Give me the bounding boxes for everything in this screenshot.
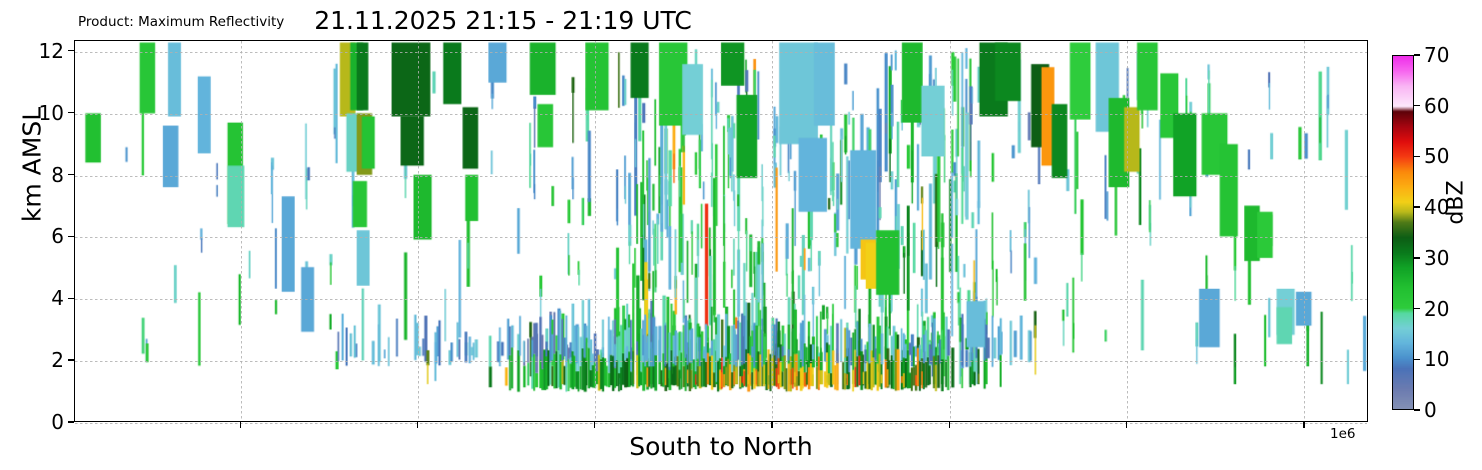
colorbar-tick-mark xyxy=(1414,359,1420,360)
colorbar-label: dBZ xyxy=(1444,143,1469,263)
x-tick-mark xyxy=(949,422,950,428)
x-tick-mark xyxy=(240,422,241,428)
radar-cross-section-figure: 21.11.2025 21:15 - 21:19 UTC Product: Ma… xyxy=(0,0,1482,470)
y-tick-label: 6 xyxy=(51,224,64,248)
y-tick-label: 10 xyxy=(39,101,64,125)
y-tick-label: 2 xyxy=(51,348,64,372)
colorbar-tick-mark xyxy=(1414,308,1420,309)
gridline-horizontal xyxy=(75,423,1367,424)
x-tick-mark xyxy=(417,422,418,428)
colorbar-tick-label: 60 xyxy=(1424,94,1449,118)
colorbar-tick-mark xyxy=(1414,105,1420,106)
colorbar-tick-mark xyxy=(1414,206,1420,207)
y-tick-label: 8 xyxy=(51,163,64,187)
colorbar-tick-mark xyxy=(1414,409,1420,410)
y-axis-label: km AMSL xyxy=(18,65,47,265)
x-axis-offset-text: 1e6 xyxy=(1330,426,1355,442)
y-tick-mark xyxy=(68,359,74,360)
y-tick-label: 4 xyxy=(51,286,64,310)
colorbar-tick-label: 10 xyxy=(1424,347,1449,371)
colorbar-tick-label: 0 xyxy=(1424,398,1437,422)
colorbar-tick-mark xyxy=(1414,156,1420,157)
y-tick-mark xyxy=(68,112,74,113)
colorbar xyxy=(1392,55,1414,410)
y-tick-label: 12 xyxy=(39,39,64,63)
colorbar-tick-mark xyxy=(1414,54,1420,55)
x-tick-mark xyxy=(1303,422,1304,428)
y-tick-label: 0 xyxy=(51,410,64,434)
colorbar-tick-mark xyxy=(1414,257,1420,258)
y-tick-mark xyxy=(68,421,74,422)
colorbar-gradient xyxy=(1392,55,1414,410)
y-tick-mark xyxy=(68,236,74,237)
x-tick-mark xyxy=(1126,422,1127,428)
y-tick-mark xyxy=(68,298,74,299)
reflectivity-heatmap xyxy=(75,41,1367,421)
x-axis-label: South to North xyxy=(74,432,1368,461)
x-tick-mark xyxy=(594,422,595,428)
colorbar-tick-label: 70 xyxy=(1424,43,1449,67)
plot-area xyxy=(74,40,1368,422)
x-tick-mark xyxy=(771,422,772,428)
product-label: Product: Maximum Reflectivity xyxy=(78,14,284,30)
colorbar-tick-label: 20 xyxy=(1424,297,1449,321)
y-tick-mark xyxy=(68,174,74,175)
y-tick-mark xyxy=(68,50,74,51)
